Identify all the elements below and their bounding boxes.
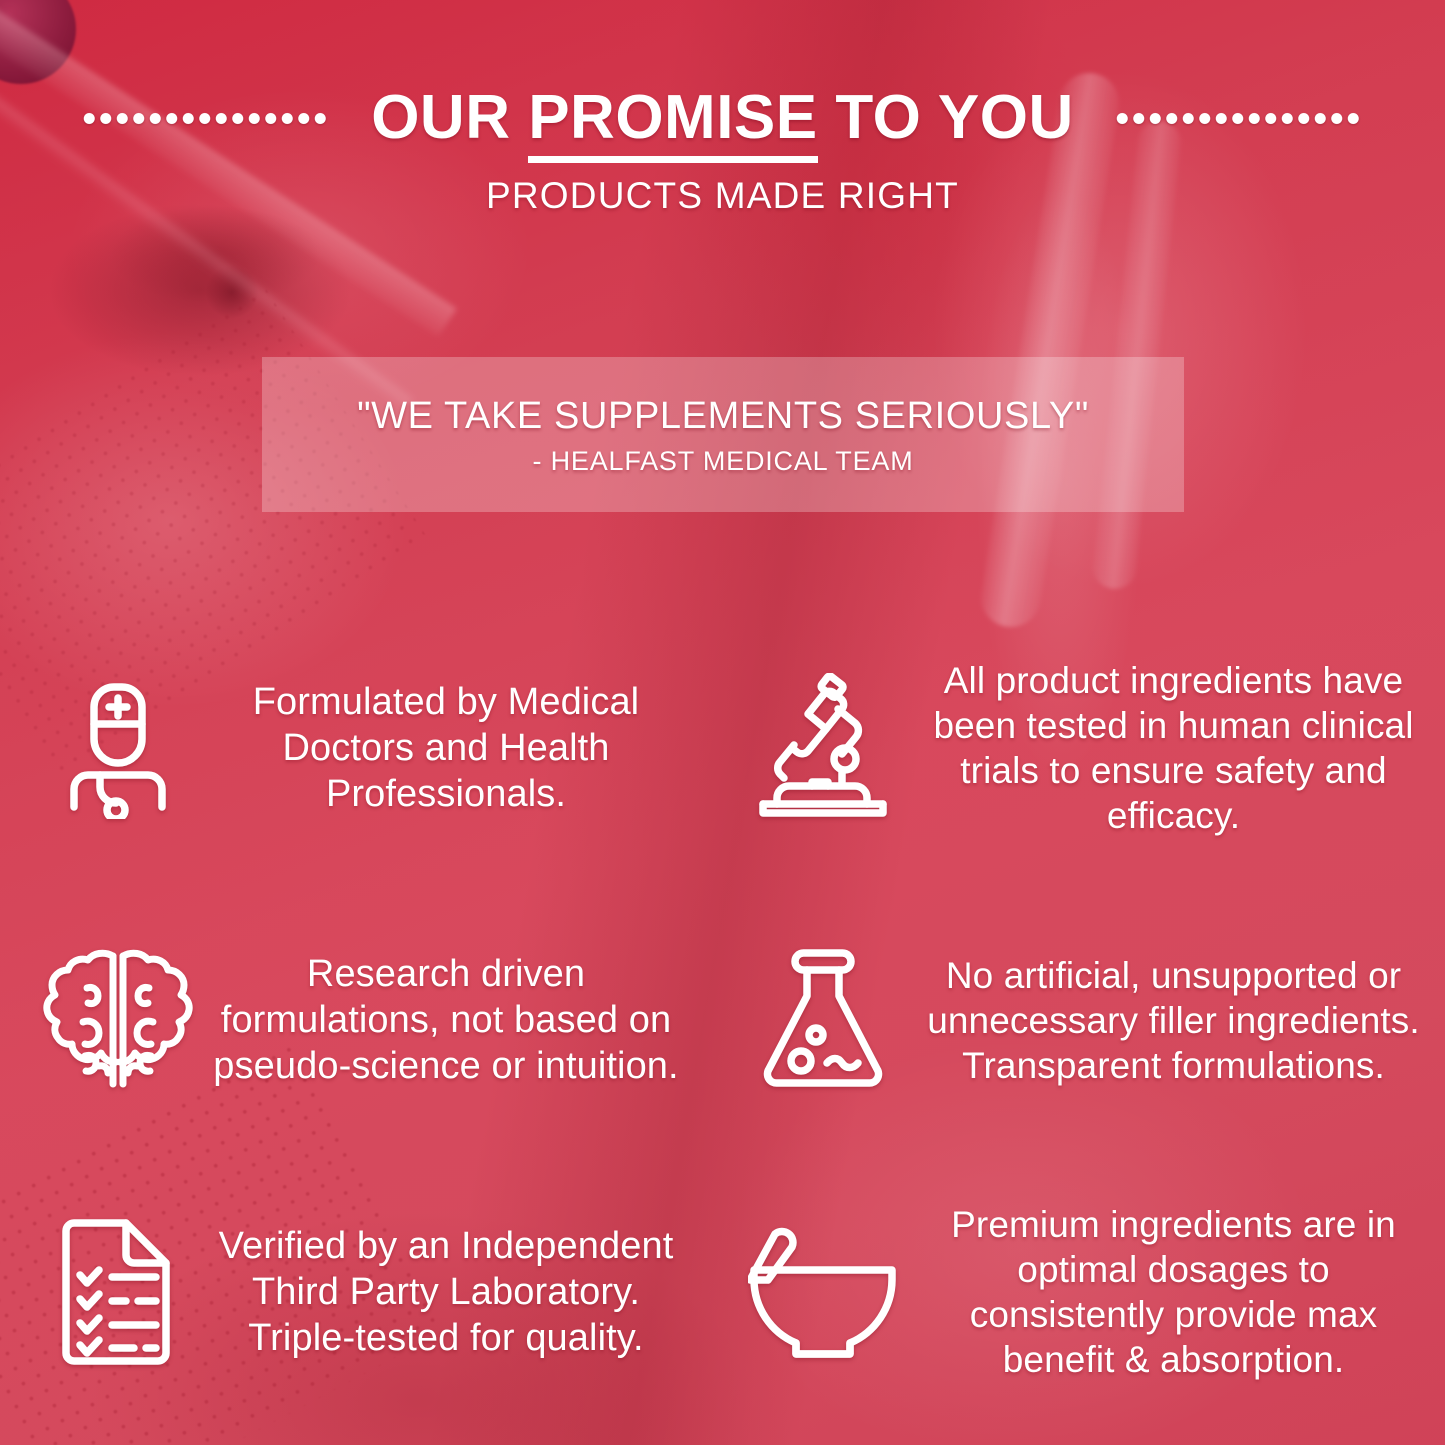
microscope-icon xyxy=(730,673,916,823)
header: OUR PROMISE TO YOU PRODUCTS MADE RIGHT xyxy=(0,82,1445,216)
brain-icon-svg xyxy=(43,944,193,1096)
quote-panel: "WE TAKE SUPPLEMENTS SERIOUSLY" - HEALFA… xyxy=(262,357,1184,512)
page-subtitle: PRODUCTS MADE RIGHT xyxy=(0,176,1445,216)
checklist-document-icon xyxy=(30,1217,206,1367)
brain-icon xyxy=(30,944,206,1096)
benefit-text: Research driven formulations, not based … xyxy=(206,951,686,1089)
page-title-prefix: OUR xyxy=(371,83,528,152)
benefit-text: Verified by an Independent Third Party L… xyxy=(206,1223,686,1361)
doctor-icon-svg xyxy=(54,677,182,819)
benefits-grid: Formulated by Medical Doctors and Health… xyxy=(0,612,1445,1428)
page-title-suffix: TO YOU xyxy=(818,83,1074,152)
flask-icon xyxy=(730,945,916,1095)
benefit-item-doctor: Formulated by Medical Doctors and Health… xyxy=(0,612,700,884)
benefit-item-flask: No artificial, unsupported or unnecessar… xyxy=(700,884,1445,1156)
dotted-divider-right-icon xyxy=(1114,112,1364,125)
mortar-pestle-icon xyxy=(730,1226,916,1358)
benefit-item-brain: Research driven formulations, not based … xyxy=(0,884,700,1156)
microscope-icon-svg xyxy=(750,673,896,823)
dotted-divider-left-icon xyxy=(81,112,331,125)
benefit-item-microscope: All product ingredients have been tested… xyxy=(700,612,1445,884)
benefit-text: No artificial, unsupported or unnecessar… xyxy=(916,953,1431,1088)
flask-icon-svg xyxy=(757,945,889,1095)
page-title-emphasis: PROMISE xyxy=(528,83,817,163)
benefit-text: All product ingredients have been tested… xyxy=(916,658,1431,838)
benefit-item-mortar-pestle: Premium ingredients are in optimal dosag… xyxy=(700,1156,1445,1428)
doctor-icon xyxy=(30,677,206,819)
benefit-text: Formulated by Medical Doctors and Health… xyxy=(206,679,686,817)
mortar-pestle-icon-svg xyxy=(748,1226,898,1358)
benefit-text: Premium ingredients are in optimal dosag… xyxy=(916,1202,1431,1382)
promise-poster: OUR PROMISE TO YOU PRODUCTS MADE RIGHT "… xyxy=(0,0,1445,1445)
title-row: OUR PROMISE TO YOU xyxy=(0,82,1445,154)
checklist-document-icon-svg xyxy=(56,1217,180,1367)
quote-text: "WE TAKE SUPPLEMENTS SERIOUSLY" xyxy=(357,394,1089,438)
poster-content: OUR PROMISE TO YOU PRODUCTS MADE RIGHT "… xyxy=(0,0,1445,1445)
quote-attribution: - HEALFAST MEDICAL TEAM xyxy=(533,446,914,476)
page-title: OUR PROMISE TO YOU xyxy=(371,85,1074,151)
benefit-item-checklist: Verified by an Independent Third Party L… xyxy=(0,1156,700,1428)
